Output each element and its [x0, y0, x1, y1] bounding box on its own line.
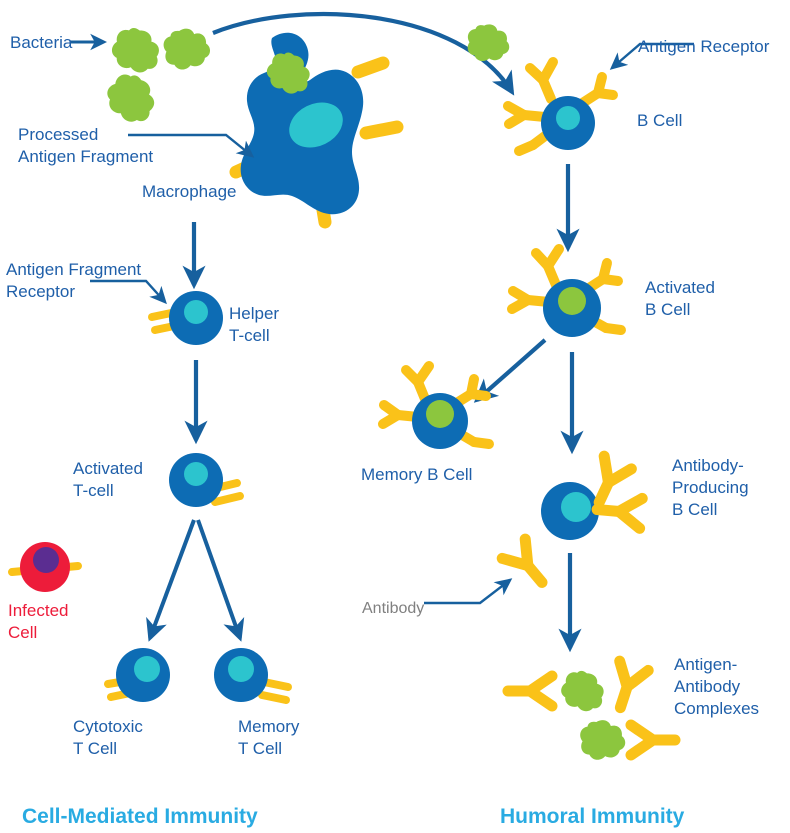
- bacterium-icon: [464, 21, 511, 65]
- label-activated-b-cell: Activated B Cell: [645, 277, 715, 321]
- label-bacteria: Bacteria: [10, 32, 72, 54]
- label-helper-t-cell: Helper T-cell: [229, 303, 279, 347]
- activated-b-cell-graphic: [512, 249, 621, 337]
- memory-t-cell-nucleus: [228, 656, 254, 682]
- antigen-icon: [558, 667, 609, 715]
- label-cytotoxic-t-cell: Cytotoxic T Cell: [73, 716, 143, 760]
- label-b-cell: B Cell: [637, 110, 682, 132]
- activated-to-memory-bcell-arrow: [477, 340, 545, 400]
- activated-to-cytotoxic-arrow: [150, 520, 194, 638]
- section-title-cell-mediated-immunity: Cell-Mediated Immunity: [22, 805, 258, 829]
- activated-t-cell-nucleus: [184, 462, 208, 486]
- infected-cell-graphic: [12, 542, 78, 592]
- label-memory-t-cell: Memory T Cell: [238, 716, 299, 760]
- cytotoxic-t-cell-graphic: [108, 648, 170, 702]
- label-infected-cell: Infected Cell: [8, 600, 69, 644]
- label-activated-t-cell: Activated T-cell: [73, 458, 143, 502]
- label-antibody: Antibody: [362, 598, 424, 620]
- antibody-icon: [508, 676, 552, 706]
- label-memory-b-cell: Memory B Cell: [361, 464, 472, 486]
- infected-cell-nucleus: [33, 547, 59, 573]
- bacterium-icon: [108, 24, 163, 75]
- label-antigen-antibody-complexes: Antigen- Antibody Complexes: [674, 654, 759, 720]
- memory-b-cell-graphic: [383, 366, 489, 449]
- bacteria-group: [99, 22, 214, 129]
- antigen-icon: [575, 715, 628, 765]
- memory-b-cell-nucleus: [426, 400, 454, 428]
- label-antigen-fragment-receptor: Antigen Fragment Receptor: [6, 259, 141, 303]
- bacterium-icon: [158, 22, 214, 75]
- label-macrophage: Macrophage: [142, 181, 237, 203]
- antibody-icon: [606, 661, 648, 712]
- section-title-humoral-immunity: Humoral Immunity: [500, 805, 684, 829]
- antibody-leader: [424, 580, 510, 603]
- helper-t-cell-nucleus: [184, 300, 208, 324]
- antibody-producing-b-cell-nucleus: [561, 492, 591, 522]
- antibody-icon: [502, 539, 553, 592]
- antigen-antibody-complexes-graphic: [508, 661, 675, 765]
- antibody-producing-b-cell-graphic: [502, 456, 642, 592]
- b-cell-nucleus: [556, 106, 580, 130]
- cytotoxic-t-cell-nucleus: [134, 656, 160, 682]
- bacterium-icon: [99, 67, 163, 129]
- label-antibody-producing-b-cell: Antibody- Producing B Cell: [672, 455, 749, 521]
- antibody-icon: [631, 725, 675, 755]
- b-cell-graphic: [508, 62, 613, 151]
- macrophage-cell: [236, 33, 397, 222]
- activated-b-cell-nucleus: [558, 287, 586, 315]
- activated-t-cell-graphic: [169, 453, 240, 507]
- label-antigen-receptor: Antigen Receptor: [638, 36, 769, 58]
- label-processed-antigen-fragment: Processed Antigen Fragment: [18, 124, 153, 168]
- activated-to-memory-t-arrow: [198, 520, 240, 638]
- memory-t-cell-graphic: [214, 648, 288, 702]
